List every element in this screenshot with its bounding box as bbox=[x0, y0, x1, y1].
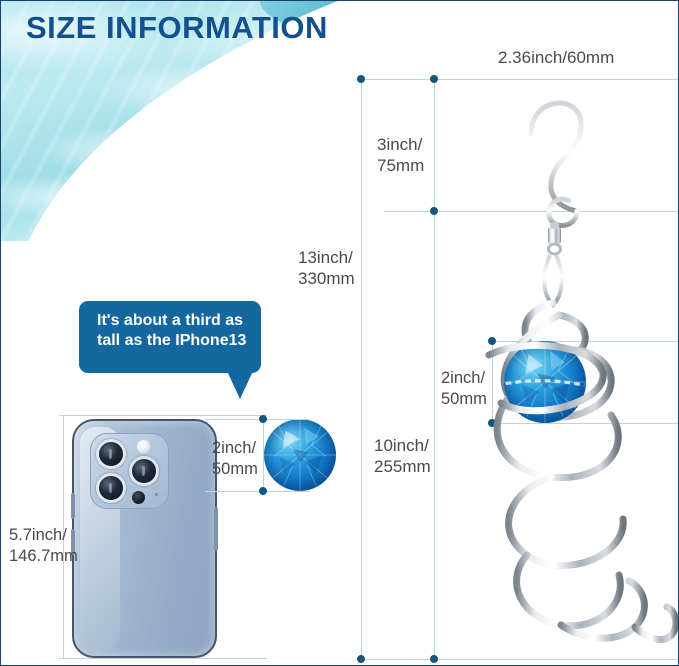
crystal-ball-left bbox=[264, 419, 336, 491]
power-button bbox=[214, 507, 218, 551]
iphone-13-illustration bbox=[72, 419, 217, 658]
clasp-icon bbox=[544, 255, 561, 305]
crystal-facets-left bbox=[264, 419, 336, 491]
label-spiral-height: 10inch/ 255mm bbox=[374, 435, 431, 477]
phone-dimension-line-bottom bbox=[59, 658, 267, 659]
callout-text: It's about a third as tall as the IPhone… bbox=[97, 311, 252, 351]
dimension-dot-top-left bbox=[357, 75, 365, 83]
microphone-dot-icon bbox=[155, 493, 158, 496]
left-ball-dimension-dot-bottom bbox=[259, 487, 267, 495]
page-title: SIZE INFORMATION bbox=[26, 12, 328, 43]
camera-lens-1 bbox=[96, 439, 126, 469]
phone-body bbox=[72, 419, 217, 658]
label-phone-height: 5.7inch/ 146.7mm bbox=[9, 525, 78, 567]
dimension-dot-bottom-left bbox=[357, 655, 365, 663]
left-ball-dimension-line-top bbox=[205, 419, 309, 420]
phone-dimension-line-top bbox=[59, 415, 267, 416]
left-ball-dimension-line-vertical bbox=[263, 419, 264, 491]
s-hook-icon bbox=[531, 103, 581, 225]
label-spinner-width: 2.36inch/60mm bbox=[498, 47, 614, 68]
size-information-infographic: SIZE INFORMATION 2.36inch/60mm 3inch/ 75… bbox=[0, 0, 679, 666]
camera-flash-icon bbox=[136, 439, 151, 454]
volume-up-button bbox=[71, 493, 75, 519]
left-ball-dimension-dot-top bbox=[259, 415, 267, 423]
label-ball-diameter-left: 2inch/ 50mm bbox=[212, 438, 258, 480]
callout-bubble: It's about a third as tall as the IPhone… bbox=[79, 301, 261, 373]
callout-bubble-tail bbox=[227, 371, 253, 399]
label-hook-height: 3inch/ 75mm bbox=[377, 134, 424, 176]
lidar-sensor-icon bbox=[132, 491, 145, 504]
left-ball-dimension-line-bottom bbox=[205, 491, 309, 492]
camera-lens-3 bbox=[129, 456, 159, 486]
camera-lens-2 bbox=[96, 473, 126, 503]
dimension-line-bottom bbox=[361, 659, 679, 660]
camera-module bbox=[90, 433, 169, 509]
spiral-front-strands bbox=[467, 331, 627, 439]
label-total-height: 13inch/ 330mm bbox=[298, 247, 355, 289]
dimension-line-left-vertical bbox=[361, 79, 362, 659]
